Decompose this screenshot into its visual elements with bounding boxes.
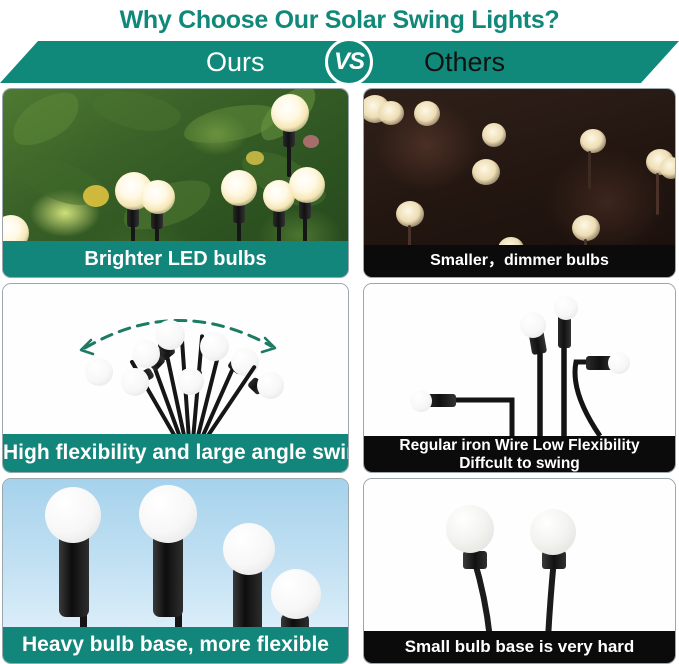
versus-banner: Ours VS Others: [0, 41, 679, 83]
comparison-panel-others-1: Smaller，dimmer bulbs: [363, 88, 676, 278]
panel-caption: Regular iron Wire Low Flexibility Diffcu…: [364, 436, 675, 472]
caption-line-2: Diffcult to swing: [364, 455, 675, 473]
comparison-panel-ours-3: Heavy bulb base, more flexible: [2, 478, 349, 664]
caption-line-1: Regular iron Wire Low Flexibility: [364, 437, 675, 455]
panel-caption: High flexibility and large angle swing: [3, 434, 348, 472]
comparison-panel-ours-1: Brighter LED bulbs: [2, 88, 349, 278]
ours-label: Ours: [206, 41, 265, 83]
panel-caption: Smaller，dimmer bulbs: [364, 245, 675, 277]
comparison-panel-ours-2: High flexibility and large angle swing: [2, 283, 349, 473]
others-label: Others: [424, 41, 505, 83]
panel-caption: Brighter LED bulbs: [3, 241, 348, 277]
versus-badge: VS: [325, 38, 373, 86]
panel-caption: Small bulb base is very hard: [364, 631, 675, 663]
comparison-panel-others-2: Regular iron Wire Low Flexibility Diffcu…: [363, 283, 676, 473]
comparison-panel-others-3: Small bulb base is very hard: [363, 478, 676, 664]
panel-caption: Heavy bulb base, more flexible: [3, 627, 348, 663]
comparison-grid: Brighter LED bulbs Smaller，dimmer bulbs: [2, 88, 677, 661]
page-title: Why Choose Our Solar Swing Lights?: [0, 0, 679, 40]
